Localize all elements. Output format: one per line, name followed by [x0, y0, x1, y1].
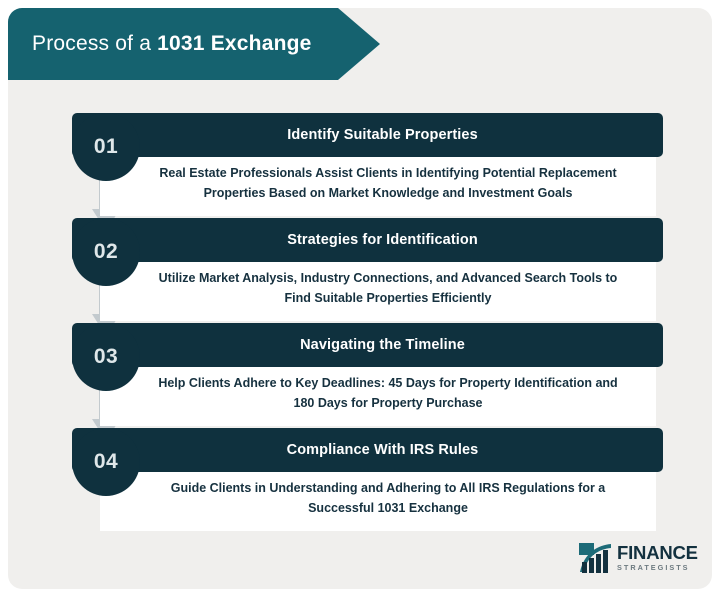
step-title: Identify Suitable Properties	[257, 127, 478, 143]
list-item: Help Clients Adhere to Key Deadlines: 45…	[8, 323, 712, 428]
infographic-frame: Process of a 1031 Exchange Real Estate P…	[8, 8, 712, 589]
step-body-card: Real Estate Professionals Assist Clients…	[100, 151, 656, 216]
list-item: Real Estate Professionals Assist Clients…	[8, 113, 712, 218]
step-title: Navigating the Timeline	[270, 337, 465, 353]
step-title: Strategies for Identification	[257, 232, 478, 248]
step-number: 02	[94, 240, 118, 264]
step-description: Real Estate Professionals Assist Clients…	[100, 164, 656, 203]
logo-name: FINANCE	[617, 544, 698, 563]
step-body-card: Guide Clients in Understanding and Adher…	[100, 466, 656, 531]
header-banner: Process of a 1031 Exchange	[8, 8, 380, 80]
step-number: 01	[94, 135, 118, 159]
steps-list: Real Estate Professionals Assist Clients…	[8, 80, 712, 589]
page-title: Process of a 1031 Exchange	[8, 32, 312, 56]
step-number-badge: 03	[72, 323, 140, 391]
finance-strategists-logo: FINANCE STRATEGISTS	[578, 538, 700, 578]
step-body-card: Utilize Market Analysis, Industry Connec…	[100, 256, 656, 321]
step-description: Utilize Market Analysis, Industry Connec…	[100, 269, 656, 308]
step-number-badge: 01	[72, 113, 140, 181]
step-body-card: Help Clients Adhere to Key Deadlines: 45…	[100, 361, 656, 426]
step-title-bar: Identify Suitable Properties	[72, 113, 663, 157]
list-item: Guide Clients in Understanding and Adher…	[8, 428, 712, 533]
logo-wordmark: FINANCE STRATEGISTS	[617, 544, 698, 571]
step-number-badge: 04	[72, 428, 140, 496]
step-description: Guide Clients in Understanding and Adher…	[100, 479, 656, 518]
bar-chart-arc-icon	[578, 542, 612, 574]
page-title-regular: Process of a	[32, 32, 157, 55]
list-item: Utilize Market Analysis, Industry Connec…	[8, 218, 712, 323]
step-title: Compliance With IRS Rules	[257, 442, 479, 458]
step-number-badge: 02	[72, 218, 140, 286]
step-title-bar: Compliance With IRS Rules	[72, 428, 663, 472]
logo-subtitle: STRATEGISTS	[617, 564, 698, 571]
step-title-bar: Navigating the Timeline	[72, 323, 663, 367]
step-title-bar: Strategies for Identification	[72, 218, 663, 262]
page-title-bold: 1031 Exchange	[157, 32, 311, 55]
step-description: Help Clients Adhere to Key Deadlines: 45…	[100, 374, 656, 413]
step-number: 04	[94, 450, 118, 474]
step-number: 03	[94, 345, 118, 369]
